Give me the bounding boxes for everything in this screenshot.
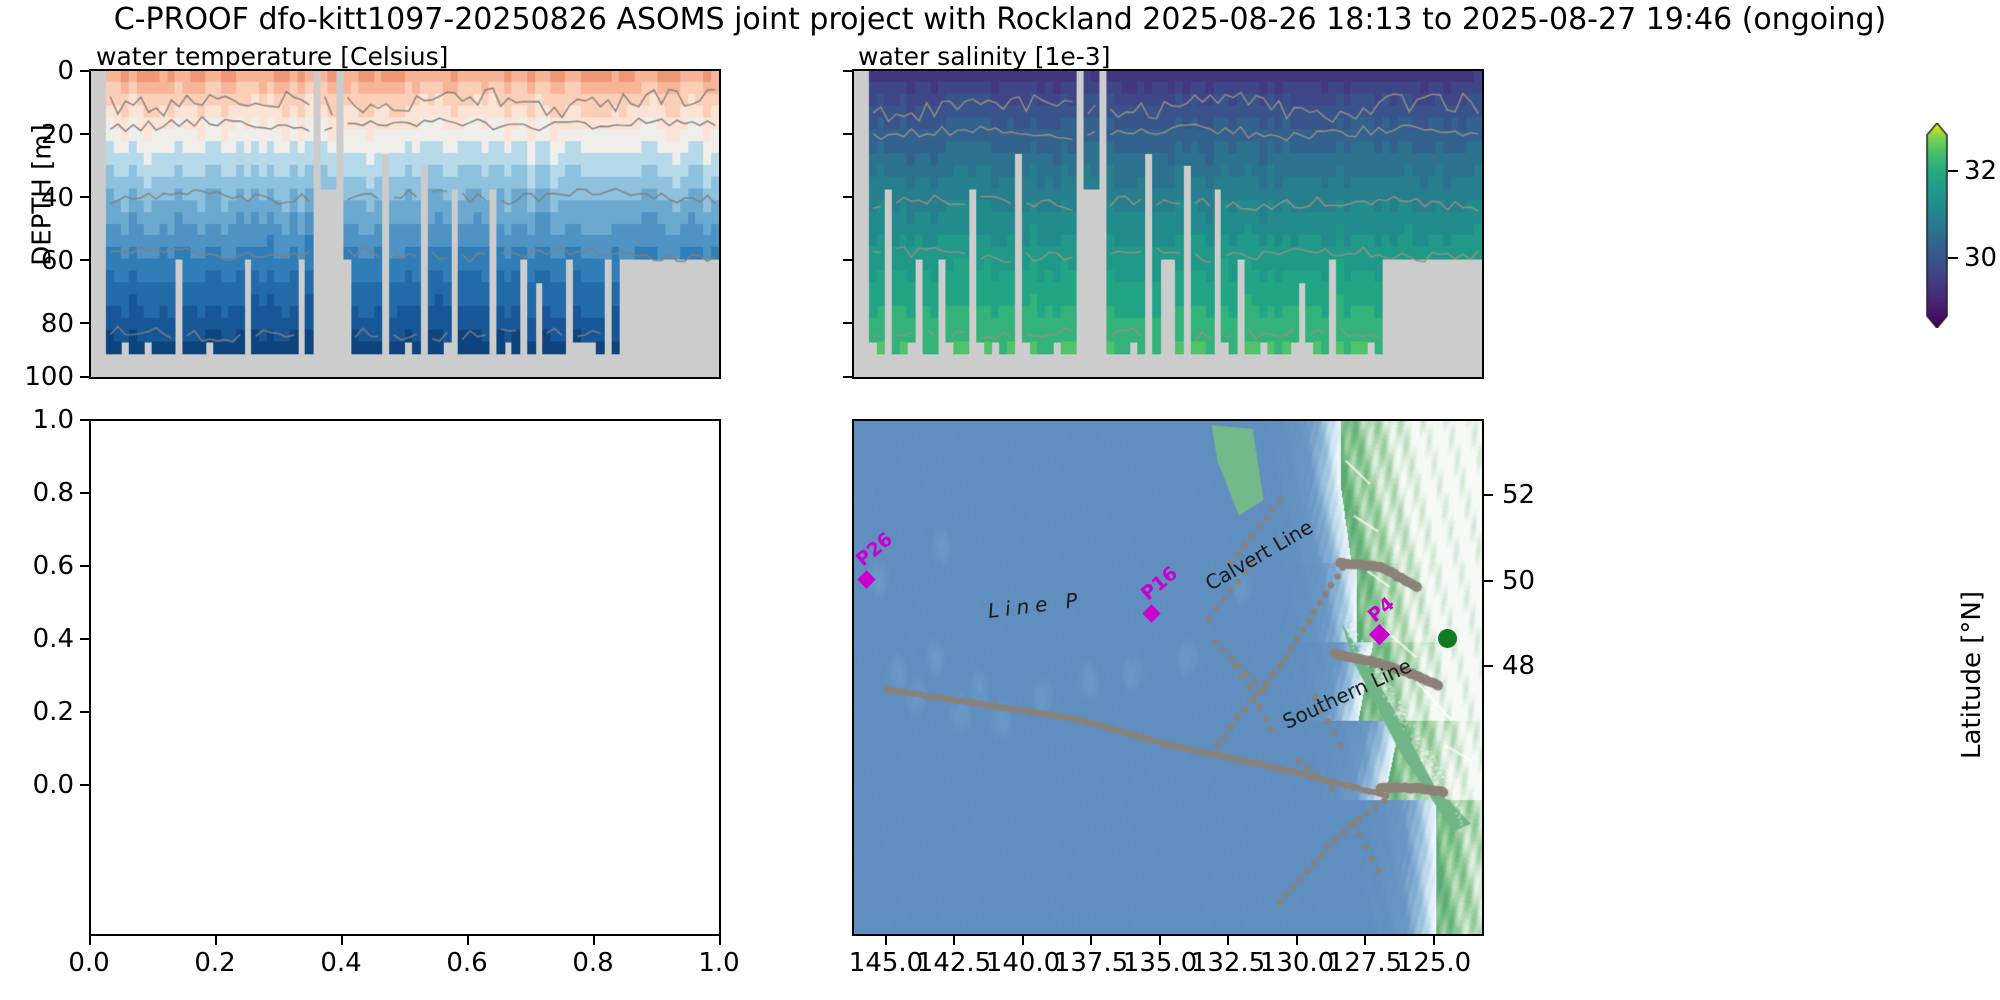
salinity-colorbar[interactable] bbox=[1926, 123, 1948, 328]
map-axes[interactable]: P26 P16 P4 Line P Calvert Line Southern … bbox=[852, 419, 1484, 936]
salinity-section-axes[interactable] bbox=[852, 69, 1484, 379]
empty-ytick-0.4: 0.4 bbox=[14, 624, 74, 654]
empty-xtick-0.4: 0.4 bbox=[316, 948, 366, 978]
map-xtickmark-135.0 bbox=[1159, 936, 1161, 945]
map-xtick-125.0: 125.0 bbox=[1384, 948, 1484, 978]
sal-ytickmark-100 bbox=[843, 376, 852, 378]
empty-ytick-0.2: 0.2 bbox=[14, 697, 74, 727]
empty-ytickmark-1.0 bbox=[80, 419, 89, 421]
temp-ytickmark-40 bbox=[80, 196, 89, 198]
empty-xtickmark-0.0 bbox=[89, 936, 91, 945]
empty-xtickmark-0.4 bbox=[341, 936, 343, 945]
current-position-marker[interactable] bbox=[1438, 629, 1457, 648]
empty-panel-axes[interactable] bbox=[89, 419, 721, 936]
empty-ytickmark-0.2 bbox=[80, 711, 89, 713]
temp-ytickmark-20 bbox=[80, 133, 89, 135]
temp-ytickmark-80 bbox=[80, 322, 89, 324]
empty-xtickmark-0.6 bbox=[467, 936, 469, 945]
empty-ytickmark-0.8 bbox=[80, 492, 89, 494]
map-xtickmark-125.0 bbox=[1433, 936, 1435, 945]
empty-xtick-0.2: 0.2 bbox=[190, 948, 240, 978]
salinity-heatmap bbox=[854, 71, 1482, 377]
empty-ytick-0.6: 0.6 bbox=[14, 551, 74, 581]
temp-ytickmark-60 bbox=[80, 259, 89, 261]
empty-ytick-0.0: 0.0 bbox=[14, 770, 74, 800]
sal-cbar-tickmark-32 bbox=[1948, 170, 1958, 172]
map-ytickmark-50 bbox=[1484, 580, 1493, 582]
map-ytickmark-48 bbox=[1484, 665, 1493, 667]
empty-ytickmark-0.0 bbox=[80, 784, 89, 786]
sal-ytickmark-80 bbox=[843, 322, 852, 324]
empty-xtickmark-0.2 bbox=[215, 936, 217, 945]
figure-canvas: C-PROOF dfo-kitt1097-20250826 ASOMS join… bbox=[0, 0, 2000, 1000]
map-xtickmark-140.0 bbox=[1022, 936, 1024, 945]
map-xtickmark-130.0 bbox=[1296, 936, 1298, 945]
temp-ytick-100: 100 bbox=[14, 362, 74, 392]
empty-xtick-0.0: 0.0 bbox=[64, 948, 114, 978]
temp-ytick-60: 60 bbox=[29, 246, 74, 276]
figure-suptitle: C-PROOF dfo-kitt1097-20250826 ASOMS join… bbox=[0, 2, 2000, 37]
map-xtickmark-127.5 bbox=[1364, 936, 1366, 945]
temp-ytick-20: 20 bbox=[29, 120, 74, 150]
sal-cbar-label-32: 32 bbox=[1964, 156, 1997, 186]
salinity-colorbar-gradient bbox=[1926, 123, 1948, 328]
map-ytick-50: 50 bbox=[1502, 566, 1535, 596]
empty-xtick-1.0: 1.0 bbox=[694, 948, 744, 978]
map-xtickmark-142.5 bbox=[953, 936, 955, 945]
empty-xtick-0.8: 0.8 bbox=[568, 948, 618, 978]
temp-ytick-0: 0 bbox=[44, 56, 74, 86]
empty-ytick-1.0: 1.0 bbox=[14, 405, 74, 435]
temperature-section-axes[interactable] bbox=[89, 69, 721, 379]
empty-xtickmark-1.0 bbox=[719, 936, 721, 945]
temp-ytick-40: 40 bbox=[29, 183, 74, 213]
sal-ytickmark-60 bbox=[843, 259, 852, 261]
temp-ytickmark-0 bbox=[80, 70, 89, 72]
map-xtickmark-145.0 bbox=[885, 936, 887, 945]
temp-ytickmark-100 bbox=[80, 376, 89, 378]
temperature-panel-title: water temperature [Celsius] bbox=[96, 42, 448, 71]
sal-ytickmark-20 bbox=[843, 133, 852, 135]
empty-ytickmark-0.6 bbox=[80, 565, 89, 567]
latitude-axis-label: Latitude [°N] bbox=[1957, 591, 1987, 759]
map-xtickmark-132.5 bbox=[1227, 936, 1229, 945]
temp-ytick-80: 80 bbox=[29, 309, 74, 339]
sal-cbar-label-30: 30 bbox=[1964, 243, 1997, 273]
empty-xtick-0.6: 0.6 bbox=[442, 948, 492, 978]
empty-ytickmark-0.4 bbox=[80, 638, 89, 640]
map-xtickmark-137.5 bbox=[1090, 936, 1092, 945]
sal-cbar-tickmark-30 bbox=[1948, 257, 1958, 259]
sal-ytickmark-0 bbox=[843, 70, 852, 72]
sal-ytickmark-40 bbox=[843, 196, 852, 198]
salinity-panel-title: water salinity [1e-3] bbox=[858, 42, 1110, 71]
map-ytick-52: 52 bbox=[1502, 480, 1535, 510]
map-ytick-48: 48 bbox=[1502, 651, 1535, 681]
map-ytickmark-52 bbox=[1484, 494, 1493, 496]
empty-ytick-0.8: 0.8 bbox=[14, 478, 74, 508]
temperature-heatmap bbox=[91, 71, 719, 377]
empty-xtickmark-0.8 bbox=[593, 936, 595, 945]
